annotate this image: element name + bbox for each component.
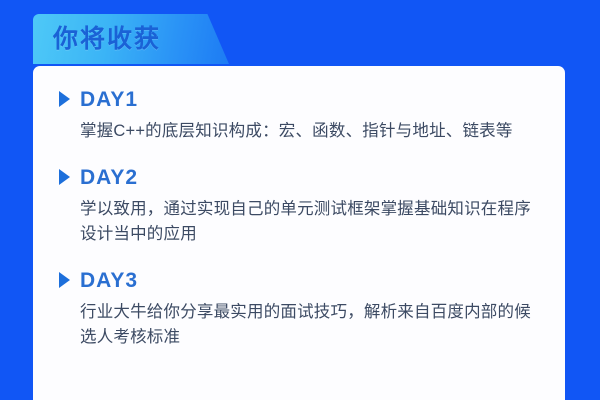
day-heading-1: DAY1 bbox=[59, 86, 539, 112]
day-body-3: 行业大牛给你分享最实用的面试技巧，解析来自百度内部的候选人考核标准 bbox=[80, 300, 539, 350]
day-section-3: DAY3 行业大牛给你分享最实用的面试技巧，解析来自百度内部的候选人考核标准 bbox=[33, 267, 565, 350]
day-label-1: DAY1 bbox=[80, 89, 138, 110]
day-label-3: DAY3 bbox=[80, 270, 138, 291]
day-heading-3: DAY3 bbox=[59, 267, 539, 293]
banner-title: 你将收获 bbox=[53, 27, 161, 52]
day-section-2: DAY2 学以致用，通过实现自己的单元测试框架掌握基础知识在程序设计当中的应用 bbox=[33, 164, 565, 247]
day-heading-2: DAY2 bbox=[59, 164, 539, 190]
triangle-right-icon bbox=[59, 272, 70, 288]
triangle-right-icon bbox=[59, 91, 70, 107]
day-section-list: DAY1 掌握C++的底层知识构成：宏、函数、指针与地址、链表等 DAY2 学以… bbox=[33, 66, 565, 350]
day-label-2: DAY2 bbox=[80, 167, 138, 188]
content-card: DAY1 掌握C++的底层知识构成：宏、函数、指针与地址、链表等 DAY2 学以… bbox=[33, 66, 565, 400]
triangle-right-icon bbox=[59, 169, 70, 185]
promo-poster: DAY1 掌握C++的底层知识构成：宏、函数、指针与地址、链表等 DAY2 学以… bbox=[0, 0, 600, 400]
day-body-2: 学以致用，通过实现自己的单元测试框架掌握基础知识在程序设计当中的应用 bbox=[80, 197, 539, 247]
section-header-banner: 你将收获 bbox=[33, 14, 229, 64]
day-section-1: DAY1 掌握C++的底层知识构成：宏、函数、指针与地址、链表等 bbox=[33, 86, 565, 144]
day-body-1: 掌握C++的底层知识构成：宏、函数、指针与地址、链表等 bbox=[80, 119, 539, 144]
